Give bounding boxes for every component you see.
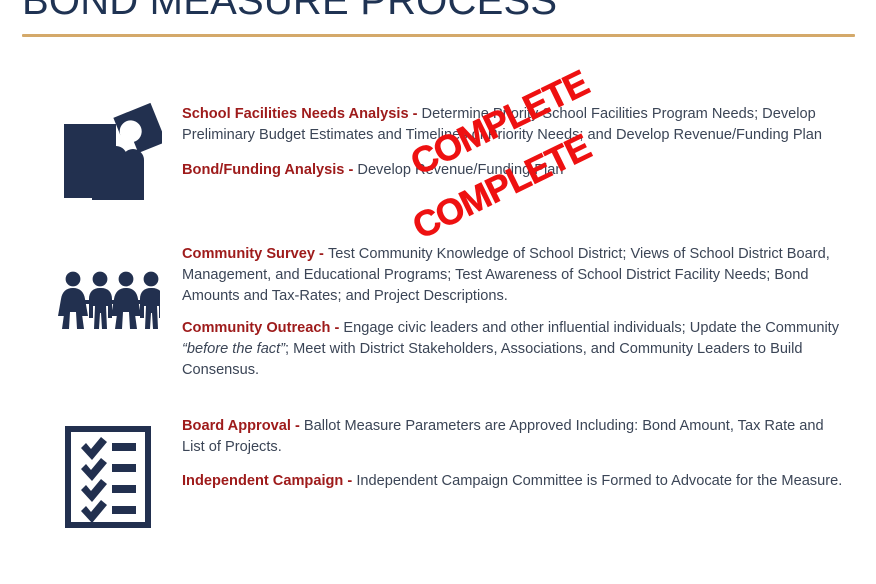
body-community-outreach-before: Engage civic leaders and other influenti… (343, 320, 839, 336)
heading-school-facilities-needs-analysis: School Facilities Needs Analysis (182, 106, 409, 122)
heading-dash: - (343, 473, 356, 489)
checklist-icon-cell (34, 412, 182, 528)
heading-dash: - (409, 106, 422, 122)
puzzle-pieces-icon-cell (34, 100, 182, 212)
title-divider (22, 34, 855, 37)
heading-bond-funding-analysis: Bond/Funding Analysis (182, 162, 344, 178)
heading-community-outreach: Community Outreach (182, 320, 330, 336)
page-title: BOND MEASURE PROCESS (22, 0, 557, 21)
body-community-outreach-italic: “before the fact” (182, 341, 285, 357)
heading-dash: - (344, 162, 357, 178)
paragraph-board-approval: Board Approval - Ballot Measure Paramete… (182, 416, 844, 458)
paragraph-independent-campaign: Independent Campaign - Independent Campa… (182, 471, 844, 492)
paragraph-community-outreach: Community Outreach - Engage civic leader… (182, 318, 844, 381)
heading-dash: - (315, 246, 328, 262)
heading-independent-campaign: Independent Campaign (182, 473, 343, 489)
heading-community-survey: Community Survey (182, 246, 315, 262)
section-community: Community Survey - Test Community Knowle… (34, 240, 844, 381)
group-of-people-icon (56, 270, 160, 336)
group-of-people-icon-cell (34, 240, 182, 336)
heading-dash: - (330, 320, 343, 336)
section-approval: Board Approval - Ballot Measure Paramete… (34, 412, 844, 528)
puzzle-pieces-icon (54, 100, 162, 212)
body-independent-campaign: Independent Campaign Committee is Formed… (356, 473, 842, 489)
approval-text: Board Approval - Ballot Measure Paramete… (182, 412, 844, 492)
paragraph-community-survey: Community Survey - Test Community Knowle… (182, 244, 844, 307)
checklist-icon (65, 426, 151, 528)
heading-board-approval: Board Approval (182, 418, 291, 434)
heading-dash: - (291, 418, 304, 434)
community-text: Community Survey - Test Community Knowle… (182, 240, 844, 381)
